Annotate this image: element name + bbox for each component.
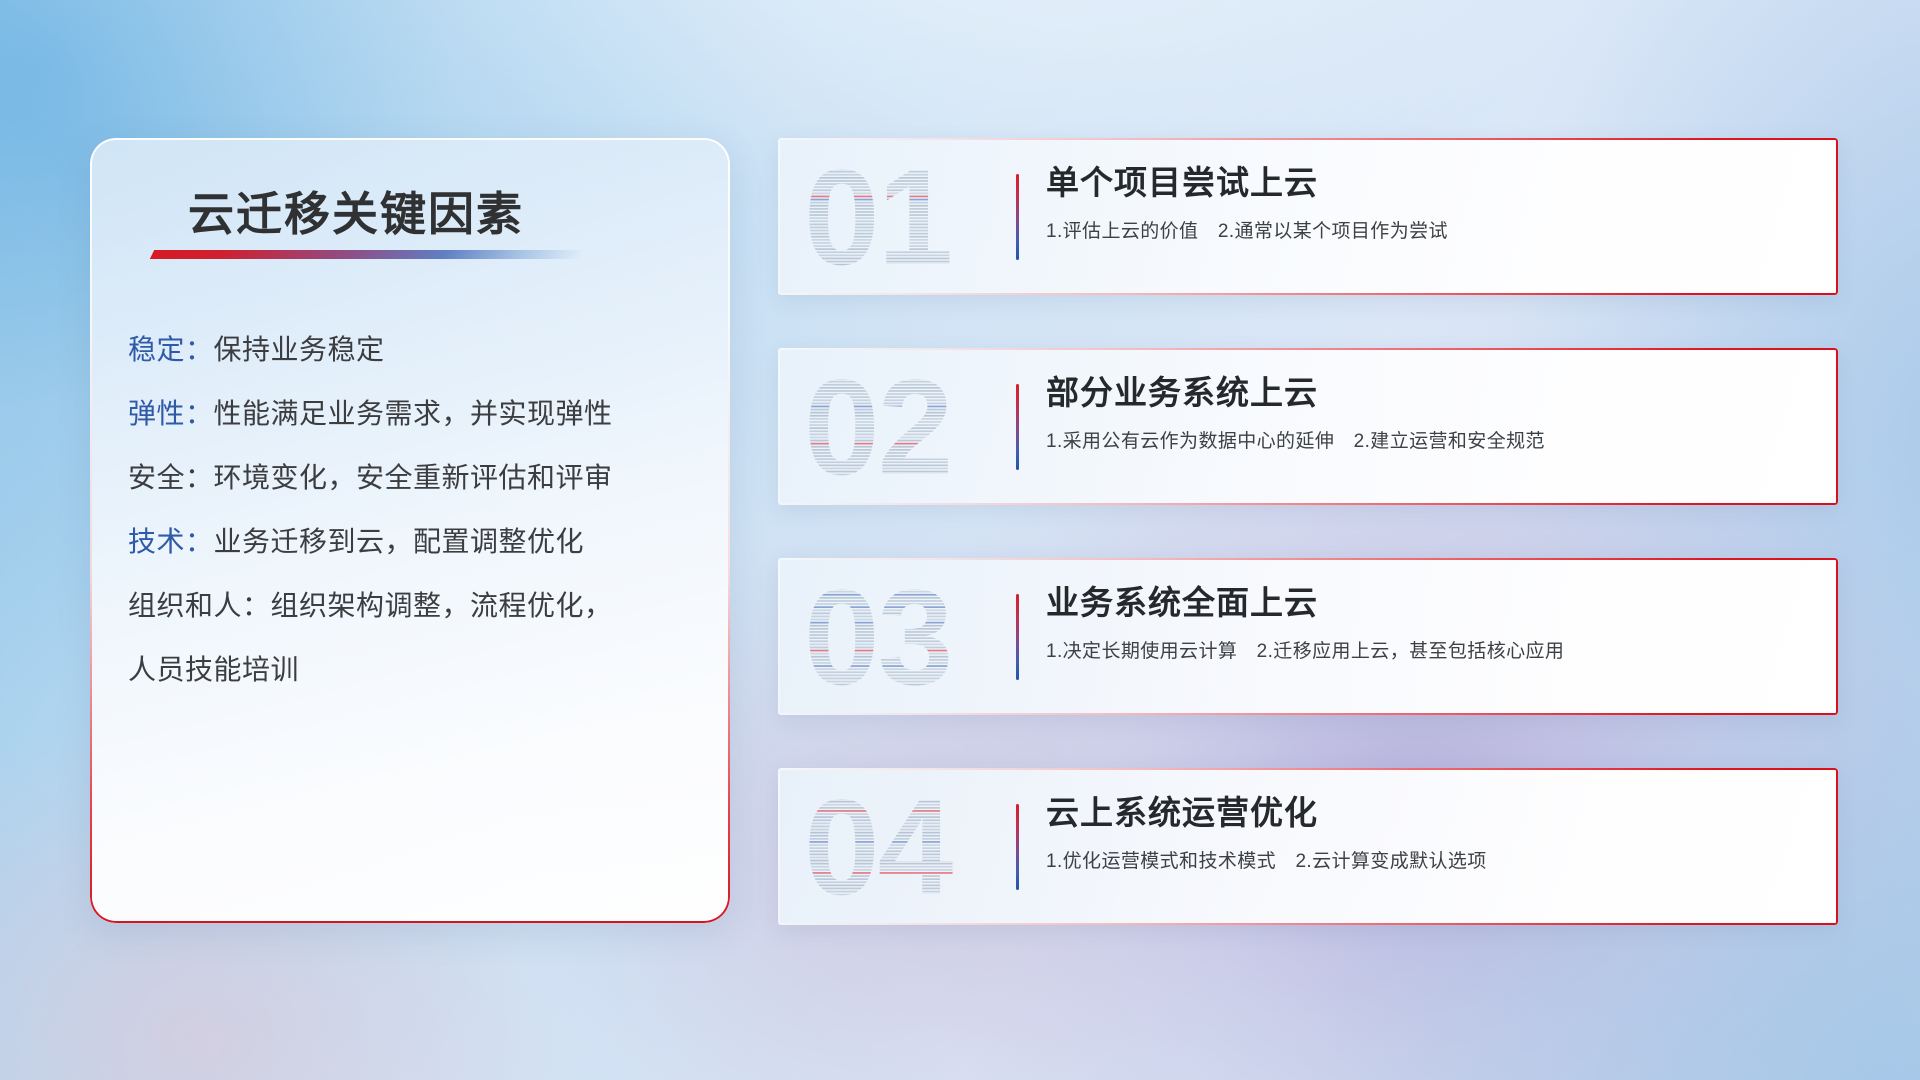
key-factor-row: 安全：环境变化，安全重新评估和评审 xyxy=(128,464,704,492)
key-factor-label: 技术： xyxy=(128,526,214,557)
key-factor-row: 技术：业务迁移到云，配置调整优化 xyxy=(128,528,704,556)
key-factor-label: 弹性： xyxy=(128,398,214,429)
key-factor-text: 组织架构调整，流程优化， xyxy=(271,590,613,621)
key-factor-row: 组织和人：组织架构调整，流程优化， xyxy=(128,592,704,620)
key-factors-list: 稳定：保持业务稳定弹性：性能满足业务需求，并实现弹性安全：环境变化，安全重新评估… xyxy=(128,336,704,718)
key-factor-label: 安全： xyxy=(128,462,214,493)
stage-subtitle: 1.决定长期使用云计算 2.迁移应用上云，甚至包括核心应用 xyxy=(1046,636,1808,663)
card-accent-divider xyxy=(1016,384,1019,470)
card-body: 业务系统全面上云1.决定长期使用云计算 2.迁移应用上云，甚至包括核心应用 xyxy=(1046,584,1808,663)
title-underline-accent xyxy=(150,250,584,259)
card-accent-divider xyxy=(1016,594,1019,680)
stage-title: 部分业务系统上云 xyxy=(1046,374,1808,413)
stage-number-watermark: 03 xyxy=(800,566,1000,708)
stage-number-watermark: 01 xyxy=(800,146,1000,288)
card-accent-divider xyxy=(1016,174,1019,260)
key-factor-label: 稳定： xyxy=(128,334,214,365)
stage-subtitle: 1.采用公有云作为数据中心的延伸 2.建立运营和安全规范 xyxy=(1046,426,1808,453)
key-factor-row: 稳定：保持业务稳定 xyxy=(128,336,704,364)
stage-subtitle: 1.评估上云的价值 2.通常以某个项目作为尝试 xyxy=(1046,216,1808,243)
stage-card[interactable]: 04云上系统运营优化1.优化运营模式和技术模式 2.云计算变成默认选项 xyxy=(778,768,1838,925)
page-title: 云迁移关键因素 xyxy=(188,178,524,244)
card-body: 部分业务系统上云1.采用公有云作为数据中心的延伸 2.建立运营和安全规范 xyxy=(1046,374,1808,453)
key-factor-row: 人员技能培训 xyxy=(128,656,704,684)
stage-title: 业务系统全面上云 xyxy=(1046,584,1808,623)
cloud-migration-stages-list: 01单个项目尝试上云1.评估上云的价值 2.通常以某个项目作为尝试02部分业务系… xyxy=(778,138,1838,978)
stage-subtitle: 1.优化运营模式和技术模式 2.云计算变成默认选项 xyxy=(1046,846,1808,873)
stage-card[interactable]: 03业务系统全面上云1.决定长期使用云计算 2.迁移应用上云，甚至包括核心应用 xyxy=(778,558,1838,715)
key-factor-row: 弹性：性能满足业务需求，并实现弹性 xyxy=(128,400,704,428)
card-accent-divider xyxy=(1016,804,1019,890)
key-factor-text: 业务迁移到云，配置调整优化 xyxy=(214,526,585,557)
key-factor-text: 人员技能培训 xyxy=(128,654,299,685)
key-factor-text: 环境变化，安全重新评估和评审 xyxy=(214,462,613,493)
stage-number-watermark: 04 xyxy=(800,776,1000,918)
stage-card[interactable]: 01单个项目尝试上云1.评估上云的价值 2.通常以某个项目作为尝试 xyxy=(778,138,1838,295)
stage-card[interactable]: 02部分业务系统上云1.采用公有云作为数据中心的延伸 2.建立运营和安全规范 xyxy=(778,348,1838,505)
stage-title: 云上系统运营优化 xyxy=(1046,794,1808,833)
key-factor-text: 性能满足业务需求，并实现弹性 xyxy=(214,398,613,429)
stage-title: 单个项目尝试上云 xyxy=(1046,164,1808,203)
key-factor-label: 组织和人： xyxy=(128,590,271,621)
card-body: 单个项目尝试上云1.评估上云的价值 2.通常以某个项目作为尝试 xyxy=(1046,164,1808,243)
stage-number-watermark: 02 xyxy=(800,356,1000,498)
key-factors-panel: 云迁移关键因素 稳定：保持业务稳定弹性：性能满足业务需求，并实现弹性安全：环境变… xyxy=(90,138,730,923)
key-factor-text: 保持业务稳定 xyxy=(214,334,385,365)
card-body: 云上系统运营优化1.优化运营模式和技术模式 2.云计算变成默认选项 xyxy=(1046,794,1808,873)
